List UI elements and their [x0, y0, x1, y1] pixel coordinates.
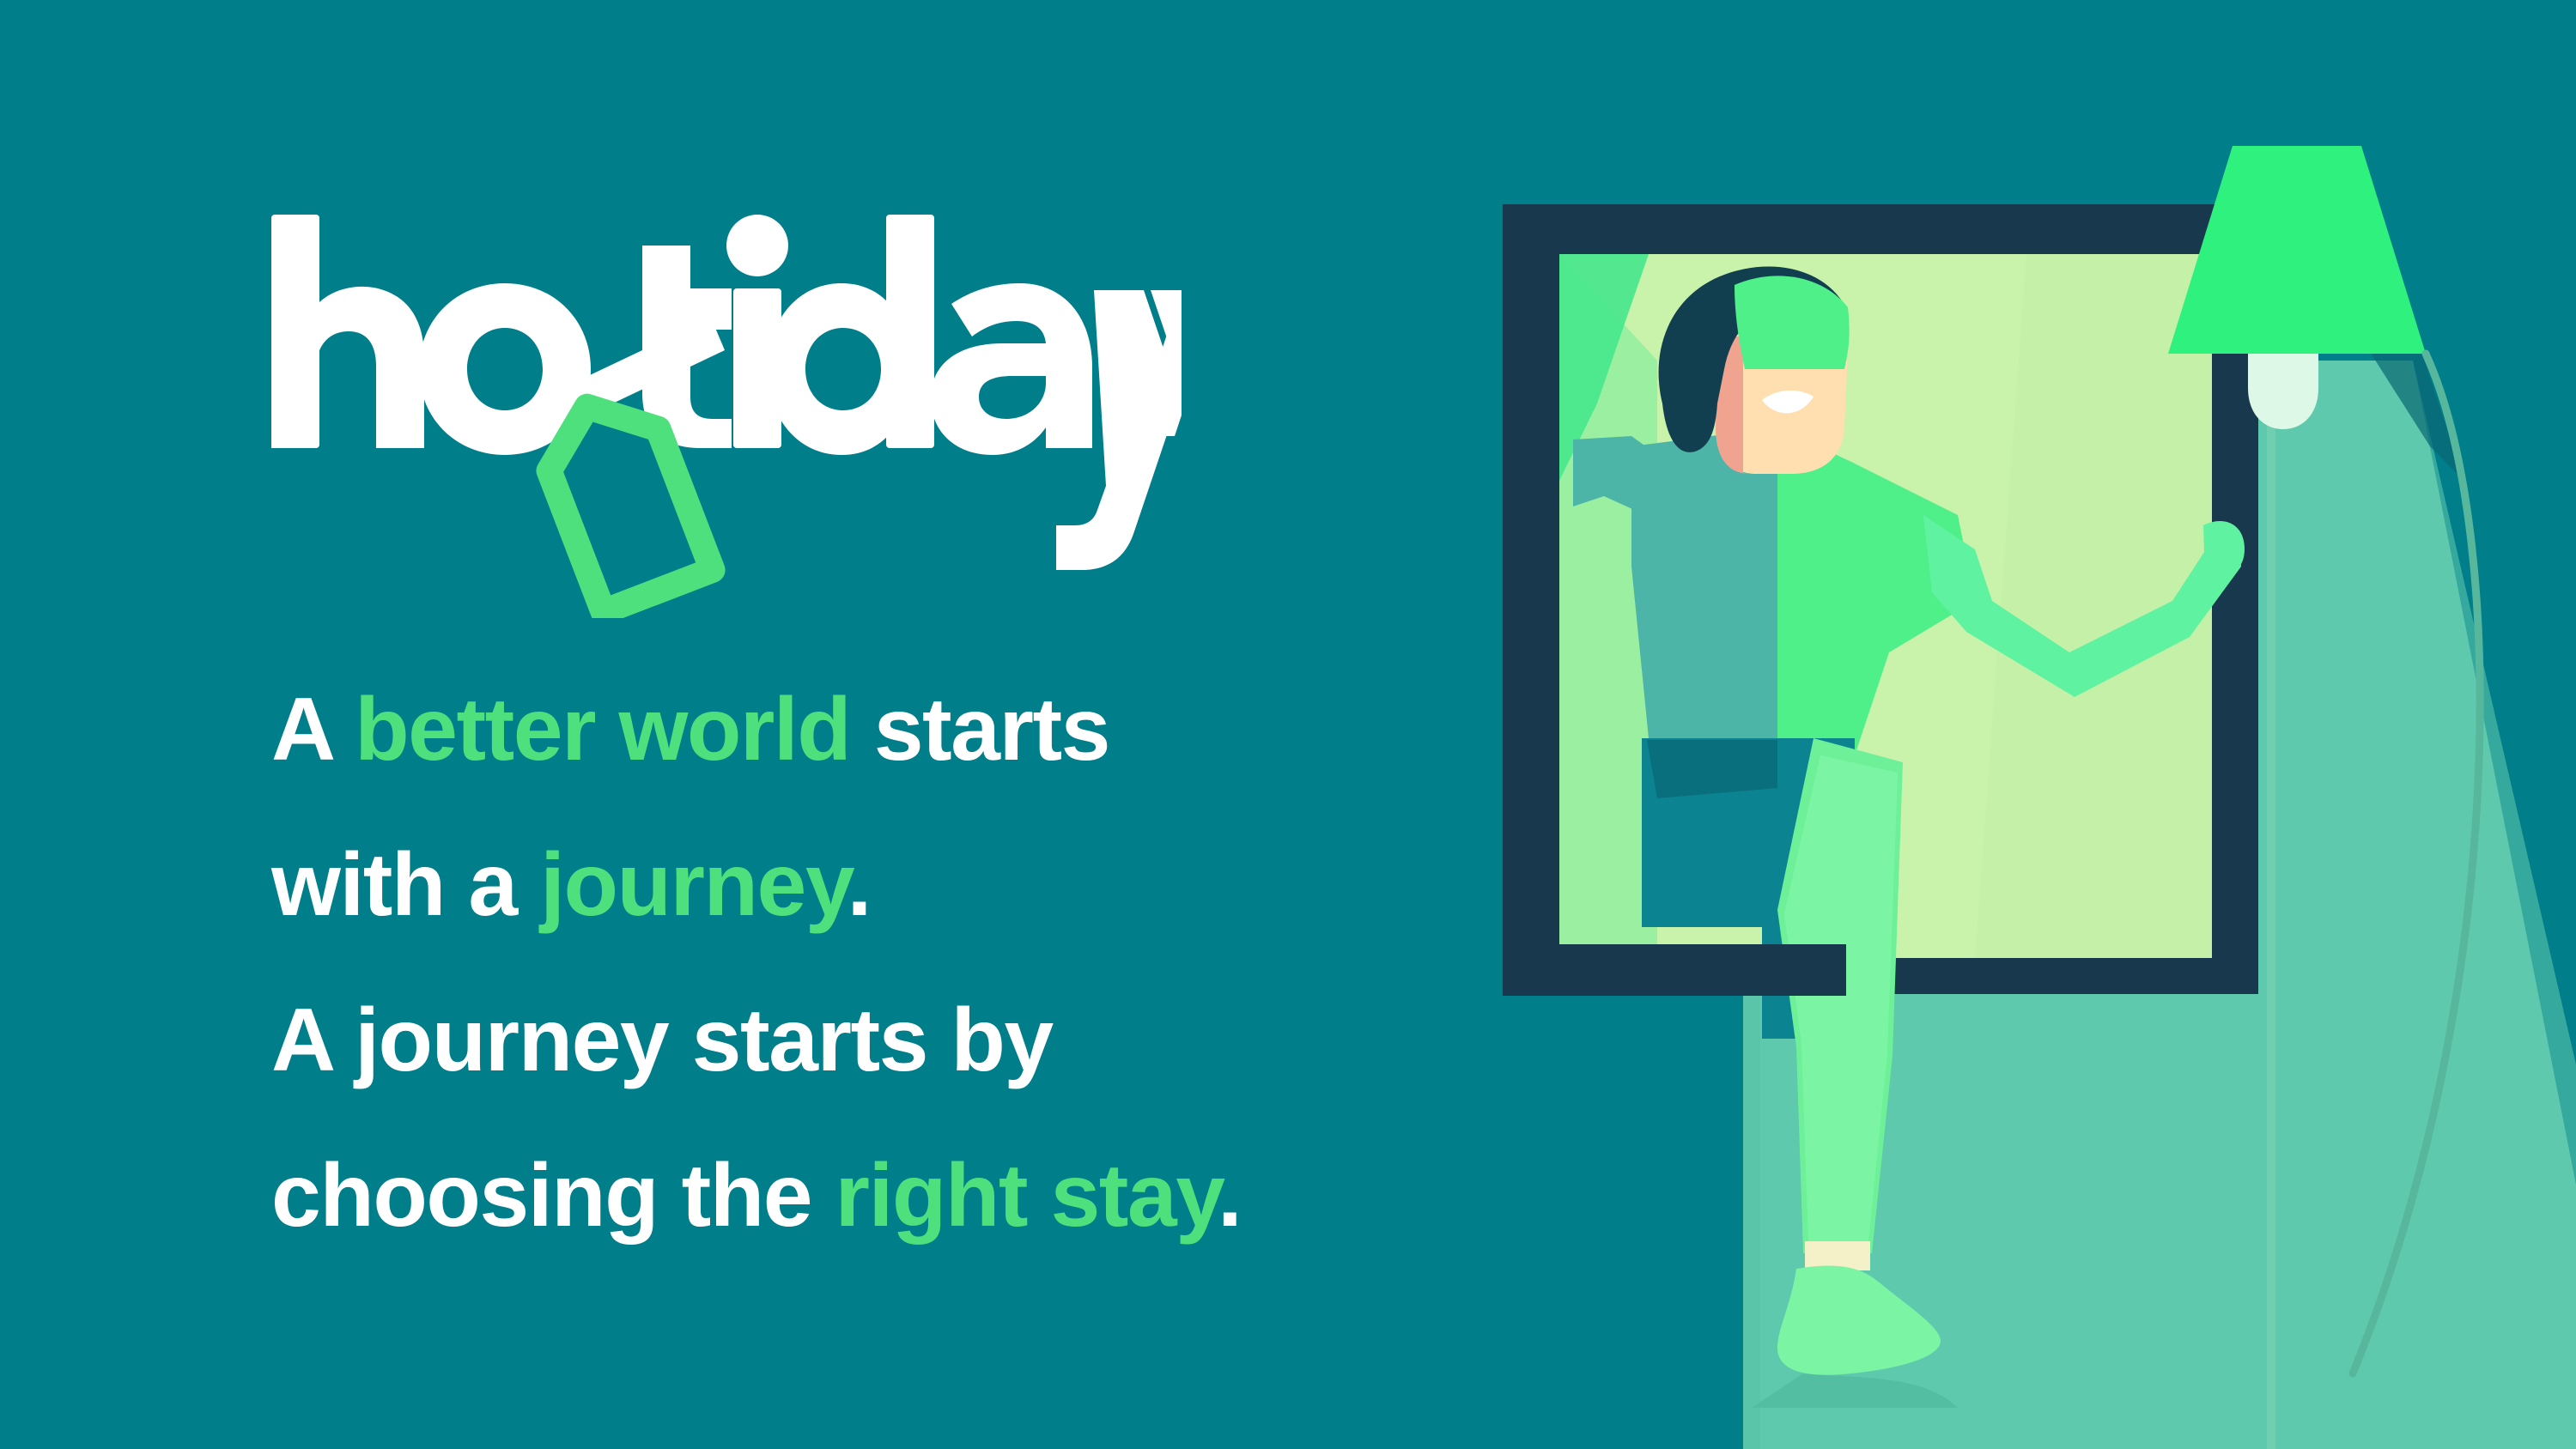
brand-block: A better world starts with a journey. A …: [271, 215, 1388, 1228]
lamp-bulb: [2248, 354, 2318, 429]
holiday-wordmark-svg: [271, 215, 1182, 618]
tagline-l4-highlight: right stay: [835, 1146, 1218, 1246]
poster-canvas: A better world starts with a journey. A …: [0, 0, 2576, 1449]
tagline-line-1: A better world starts: [271, 652, 1413, 808]
tagline: A better world starts with a journey. A …: [271, 652, 1413, 1274]
lamp-pole: [2267, 343, 2275, 1449]
man-hip-shadow: [1647, 740, 1777, 798]
tagline-l4-b: .: [1218, 1146, 1241, 1246]
letter-a: [931, 283, 1092, 455]
holiday-logo[interactable]: [271, 215, 1182, 618]
tagline-line-3: A journey starts by: [271, 963, 1413, 1119]
letter-h: [271, 215, 424, 448]
tagline-l1-highlight: better world: [355, 680, 850, 779]
tagline-l1-b: starts: [850, 680, 1109, 779]
tagline-l2-b: .: [848, 835, 871, 935]
letter-d: [768, 215, 934, 455]
frame-bottom-strip: [1503, 944, 1846, 996]
floor-left: [1374, 996, 1743, 1449]
tagline-l2-a: with a: [271, 835, 540, 935]
tagline-line-2: with a journey.: [271, 808, 1413, 963]
tagline-l4-a: choosing the: [271, 1146, 835, 1246]
tagline-l2-highlight: journey: [540, 835, 847, 935]
illustration-svg: [1374, 0, 2576, 1449]
illustration-scene: [1374, 0, 2576, 1449]
tagline-l1-a: A: [271, 680, 355, 779]
tagline-line-4: choosing the right stay.: [271, 1119, 1413, 1274]
